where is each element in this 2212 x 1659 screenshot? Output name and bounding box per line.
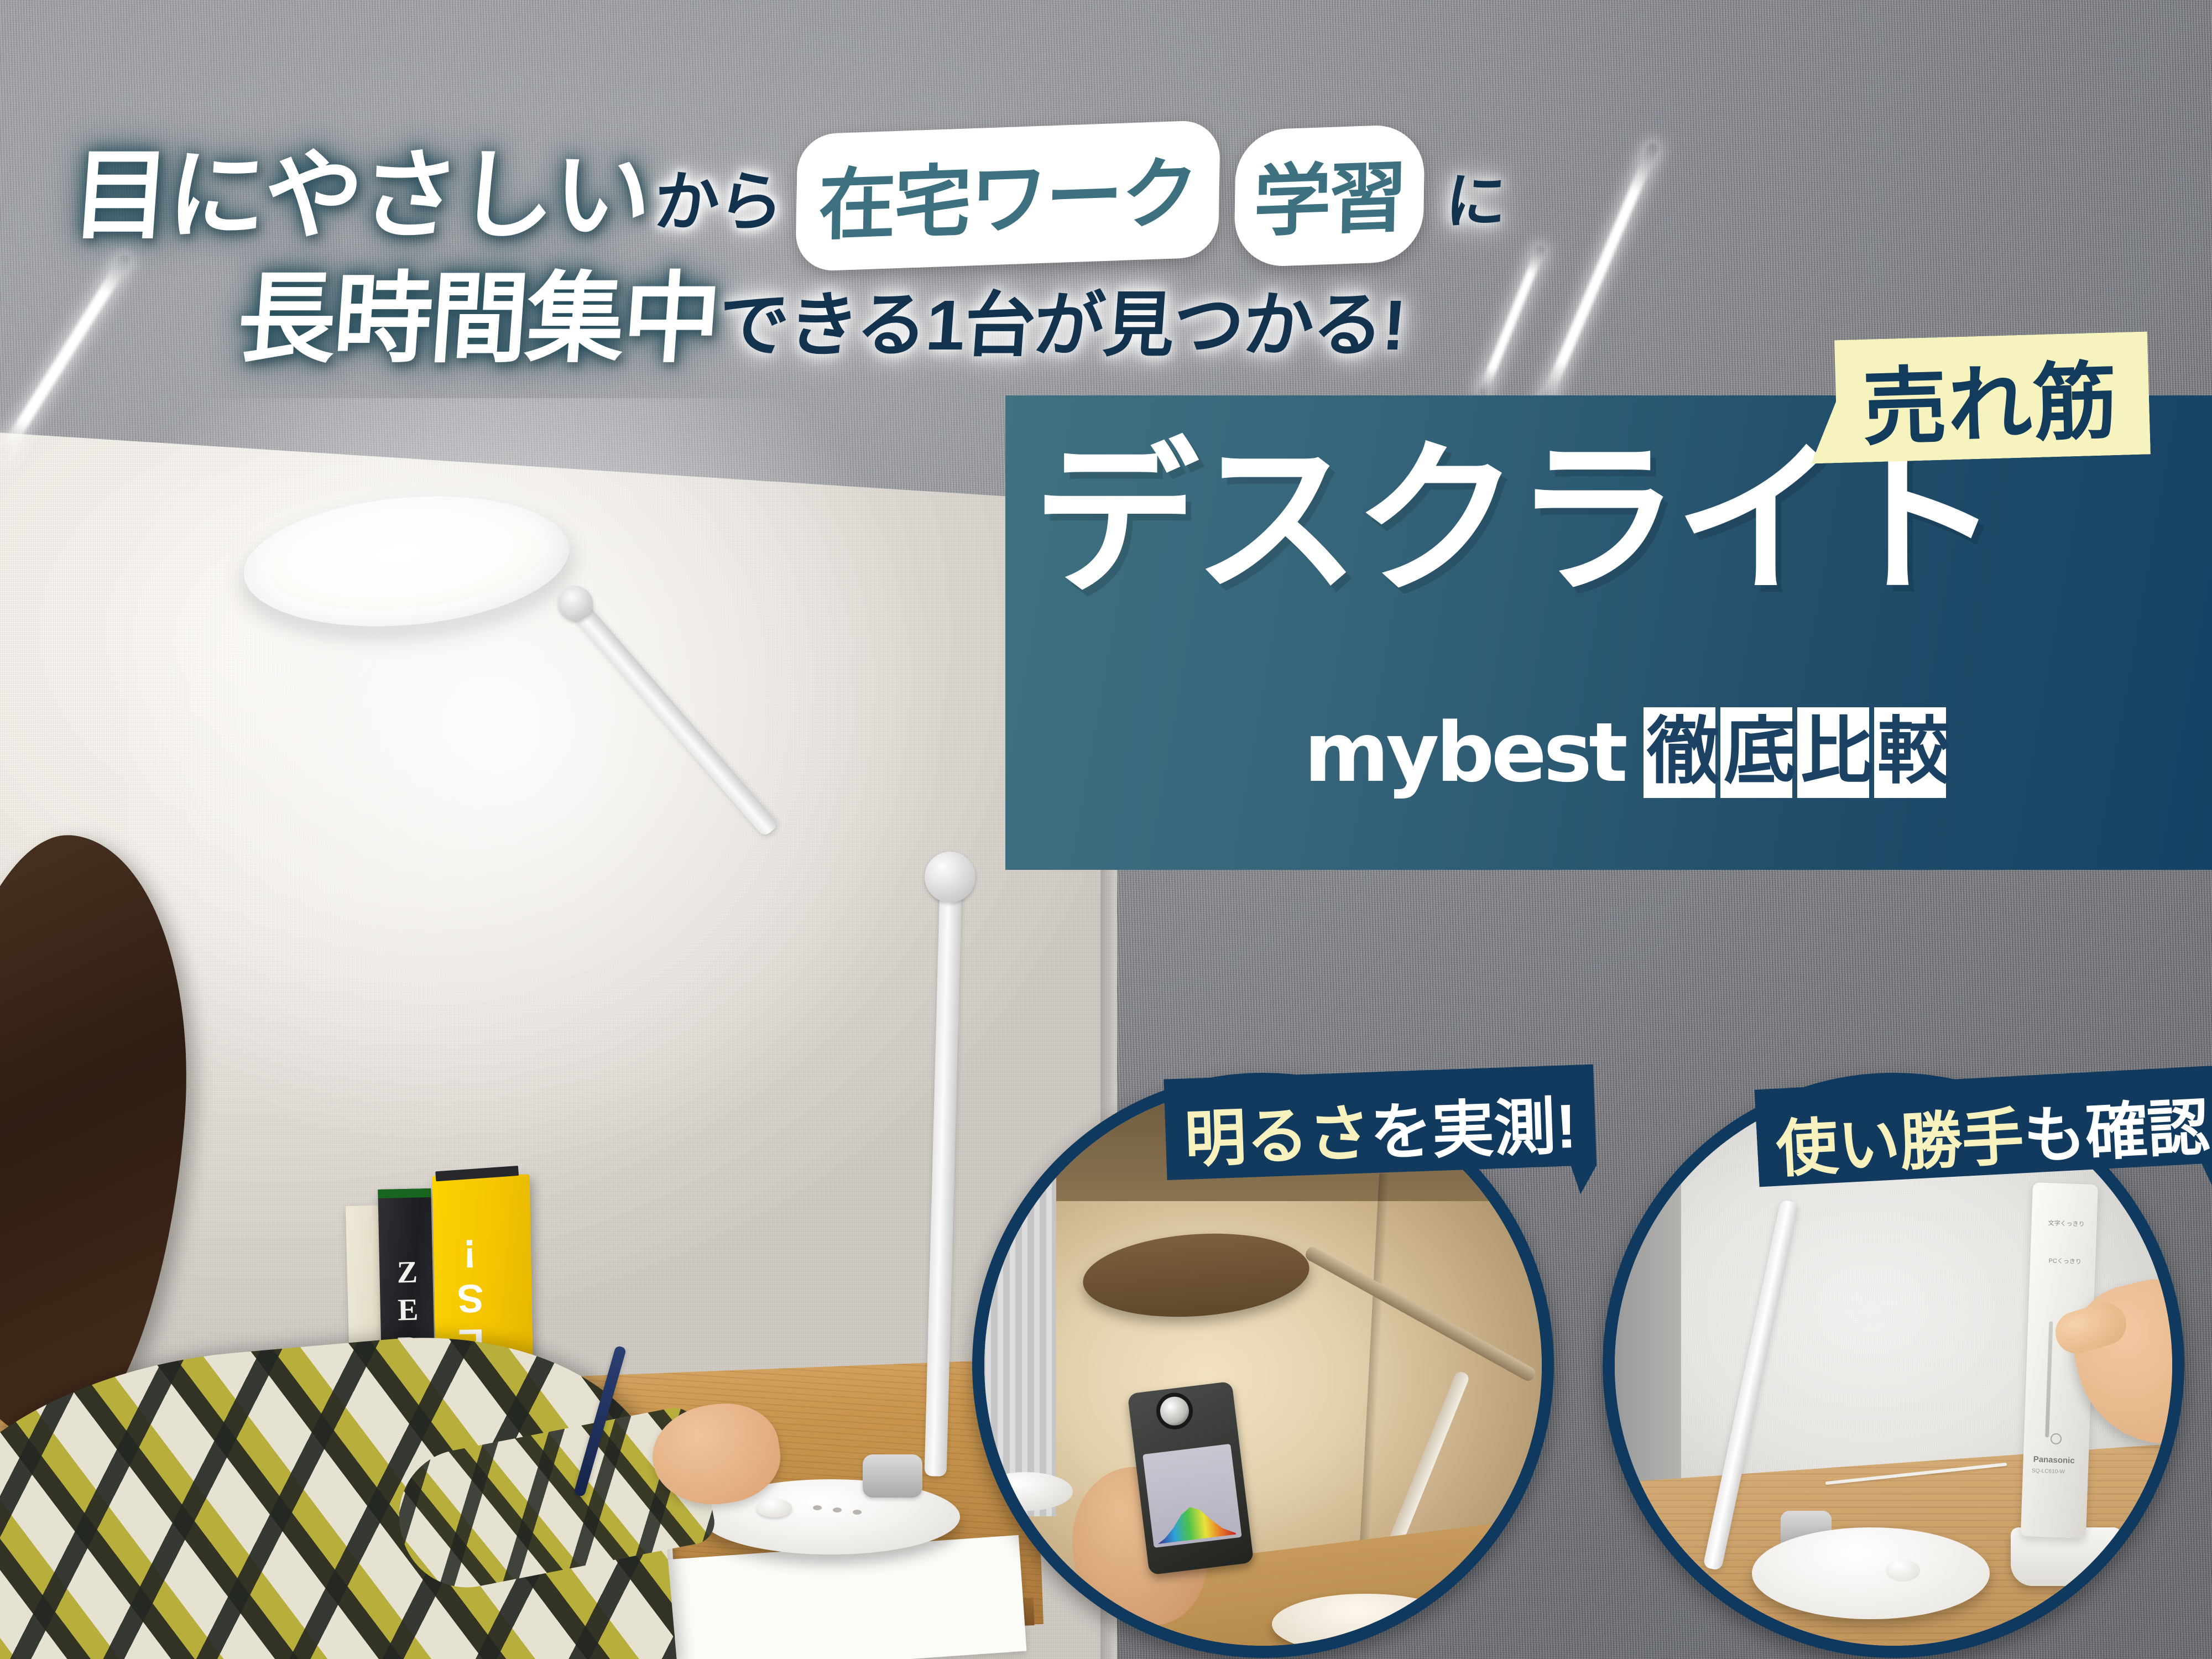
panasonic-brand-text: Panasonic <box>2033 1454 2075 1465</box>
lamp-elbow-joint <box>925 852 975 902</box>
inset-lamp-base <box>1272 1594 1460 1655</box>
kanji-box: 較 <box>1874 707 1946 798</box>
headline-lead: 目にやさしい <box>69 144 653 247</box>
mode-label-text: PCくっきり <box>2041 1256 2089 1266</box>
kanji-box: 比 <box>1797 707 1869 798</box>
lamp-base-knob <box>757 1499 792 1517</box>
headline-pill-remote-work: 在宅ワーク <box>795 119 1220 272</box>
headline-ni: に <box>1443 152 1510 240</box>
spectrum-graph <box>1154 1499 1236 1544</box>
curtain <box>973 1085 1056 1516</box>
mode-label-text: 文字くっきり <box>2042 1218 2090 1229</box>
caption-highlight: 使い勝手 <box>1773 1087 2026 1189</box>
light-meter-sensor-icon <box>1154 1391 1195 1432</box>
headline-pill-study: 学習 <box>1234 124 1425 268</box>
page-title: デスクライト <box>1033 437 2205 603</box>
mybest-logo: mybest <box>1304 705 1625 800</box>
bestseller-ribbon-badge: 売れ筋 <box>1808 331 2151 463</box>
headline-kara: から <box>651 149 786 243</box>
touch-slider[interactable] <box>2045 1321 2053 1437</box>
lamp-base-indicator <box>813 1505 822 1510</box>
headline-block: 目にやさしい から 在宅ワーク 学習 に 長時間集中 できる1台が見つかる! <box>0 127 1637 370</box>
lamp-light-panel <box>264 505 548 620</box>
lamp-base-indicator <box>833 1507 842 1512</box>
caption-rest: を実測! <box>1369 1076 1578 1173</box>
secondary-lamp-base <box>979 1472 1073 1511</box>
kanji-box: 徹 <box>1644 707 1715 798</box>
poster-canvas: ZERO to ONE WORK RULES! 目にやさしい から 在宅ワーク … <box>0 0 2212 1659</box>
inset-lamp-base <box>1752 1527 1990 1619</box>
comparison-kanji-group: 徹 底 比 較 <box>1644 707 1946 798</box>
power-icon[interactable] <box>2051 1433 2062 1445</box>
kanji-box: 底 <box>1720 707 1792 798</box>
caption-highlight: 明るさ <box>1183 1083 1371 1180</box>
panel-footer: mybest 徹 底 比 較 <box>1304 705 1946 800</box>
lamp-head-joint <box>559 586 593 620</box>
headline-tail: できる1台が見つかる! <box>716 268 1409 370</box>
light-meter-screen <box>1142 1444 1242 1548</box>
lamp-base-indicator <box>853 1510 862 1515</box>
headline-focus: 長時間集中 <box>234 268 723 370</box>
inset-lamp-knob <box>1886 1559 1920 1582</box>
lamp-base-joint <box>863 1454 922 1498</box>
caption-rest: も確認 <box>2021 1077 2211 1176</box>
panasonic-model-text: SQ-LC610-W <box>2032 1468 2065 1475</box>
light-meter-device <box>1128 1381 1254 1575</box>
